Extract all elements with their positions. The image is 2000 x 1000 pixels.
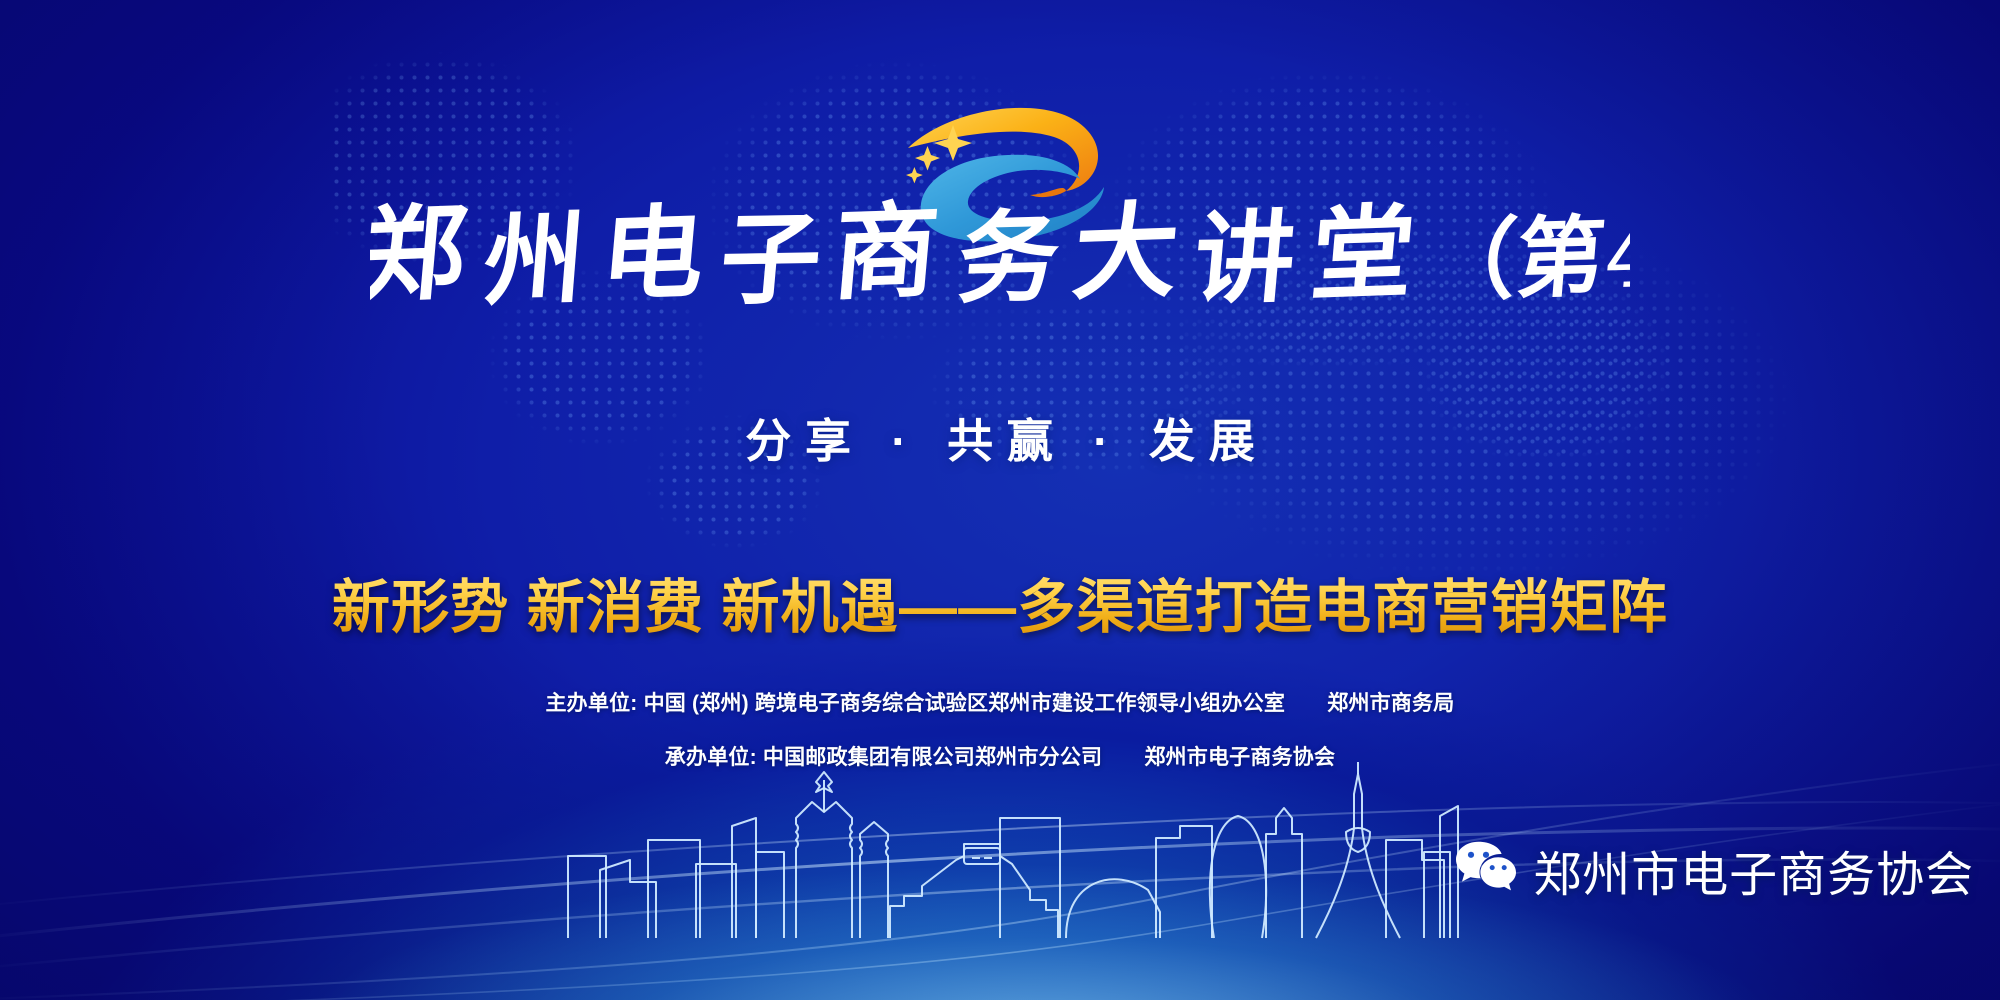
coorganizer-label: 承办单位: [665, 746, 757, 769]
svg-text:（第46期）: （第46期） [1424, 197, 1630, 313]
svg-text:讲: 讲 [1190, 199, 1300, 314]
organizer-line: 主办单位: 中国 (郑州) 跨境电子商务综合试验区郑州市建设工作领导小组办公室 … [0, 690, 2000, 718]
wechat-icon [1455, 840, 1517, 901]
organizer-label: 主办单位: [545, 692, 637, 715]
svg-text:郑: 郑 [370, 196, 471, 314]
coorganizer-value: 中国邮政集团有限公司郑州市分公司 [763, 746, 1102, 769]
svg-text:电: 电 [596, 196, 709, 314]
event-poster: 郑州电子商务大讲堂（第46期） 郑 州 电 子 商 务 大 讲 堂 （第46期）… [0, 0, 2000, 1000]
page-title: 郑州电子商务大讲堂（第46期） 郑 州 电 子 商 务 大 讲 堂 （第46期） [0, 196, 2000, 316]
svg-text:务: 务 [954, 198, 1064, 314]
credits-block: 主办单位: 中国 (郑州) 跨境电子商务综合试验区郑州市建设工作领导小组办公室 … [0, 690, 2000, 773]
wechat-account-name: 郑州市电子商务协会 [1533, 835, 1974, 905]
event-slogan: 分享 · 共赢 · 发展 [0, 405, 2000, 471]
svg-text:堂: 堂 [1306, 196, 1419, 314]
svg-text:子: 子 [715, 200, 825, 314]
organizer-value-2: 郑州市商务局 [1327, 692, 1454, 715]
wechat-badge: 郑州市电子商务协会 [1455, 835, 1974, 905]
organizer-value: 中国 (郑州) 跨境电子商务综合试验区郑州市建设工作领导小组办公室 [644, 692, 1286, 715]
city-skyline-outline [560, 760, 1460, 940]
coorganizer-line: 承办单位: 中国邮政集团有限公司郑州市分公司 郑州市电子商务协会 [0, 744, 2000, 772]
event-headline: 新形势 新消费 新机遇——多渠道打造电商营销矩阵 [0, 560, 2000, 644]
svg-text:州: 州 [480, 200, 590, 314]
svg-text:大: 大 [1068, 196, 1183, 314]
svg-text:商: 商 [828, 196, 943, 314]
coorganizer-value-2: 郑州市电子商务协会 [1144, 746, 1335, 769]
